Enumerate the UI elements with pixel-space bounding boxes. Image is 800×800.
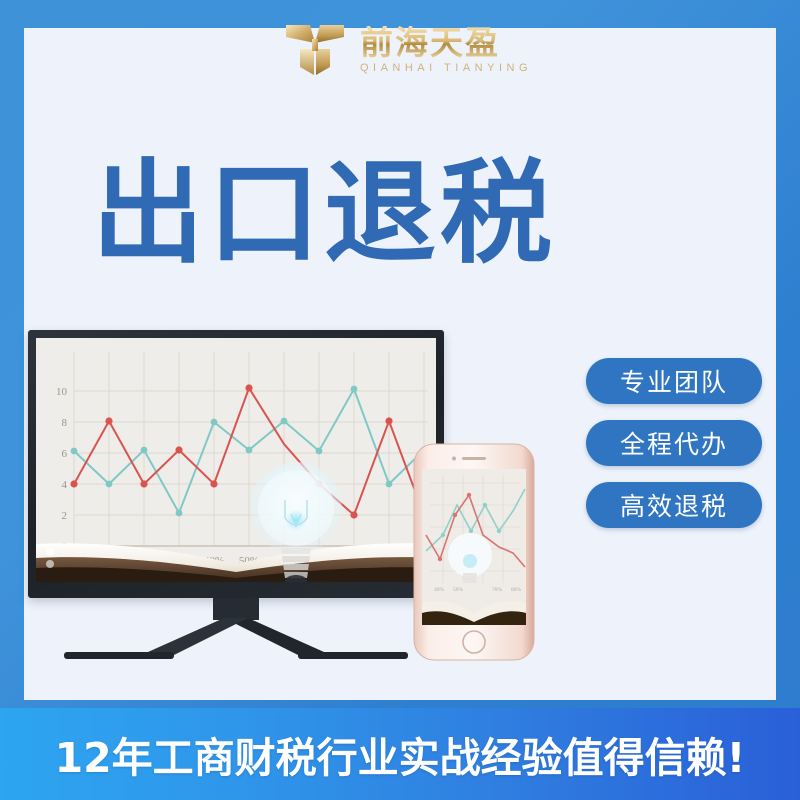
monitor-screen: 0 2 4 6 8 10 10% 20% 30% 40% 50% 60% 70%… — [36, 338, 436, 582]
brand-name-en: QIANHAI TIANYING — [360, 63, 532, 74]
trifold-y-logo-icon — [284, 17, 346, 83]
svg-text:50%: 50% — [453, 587, 464, 593]
badge-efficient-refund[interactable]: 高效退税 — [586, 482, 762, 528]
brand-header: 前海天盈 QIANHAI TIANYING — [0, 0, 800, 100]
earpiece-speaker — [462, 457, 486, 460]
smartphone: 40% 50% 70% 80% — [413, 443, 535, 661]
bottom-banner: 12年工商财税行业实战经验值得信赖! — [0, 708, 800, 800]
brand-name-cn: 前海天盈 — [360, 26, 532, 59]
svg-text:2: 2 — [62, 510, 68, 522]
open-book — [36, 538, 436, 582]
banner-text: 12年工商财税行业实战经验值得信赖! — [55, 724, 746, 784]
svg-text:70%: 70% — [492, 587, 503, 593]
front-camera-icon — [452, 457, 456, 461]
svg-text:80%: 80% — [511, 587, 522, 593]
svg-text:10: 10 — [56, 386, 68, 398]
svg-text:40%: 40% — [434, 587, 445, 593]
badge-full-service[interactable]: 全程代办 — [586, 420, 762, 466]
logo-block: 前海天盈 QIANHAI TIANYING — [284, 17, 532, 83]
monitor-stand — [28, 598, 444, 660]
badge-professional-team[interactable]: 专业团队 — [586, 358, 762, 404]
logo-text: 前海天盈 QIANHAI TIANYING — [360, 26, 532, 74]
svg-text:8: 8 — [62, 417, 68, 429]
svg-text:4: 4 — [62, 479, 68, 491]
svg-text:6: 6 — [62, 448, 68, 460]
feature-badge-list: 专业团队 全程代办 高效退税 — [586, 358, 762, 528]
page-title: 出口退税 — [92, 158, 556, 270]
poster-canvas: 前海天盈 QIANHAI TIANYING 出口退税 — [0, 0, 800, 800]
